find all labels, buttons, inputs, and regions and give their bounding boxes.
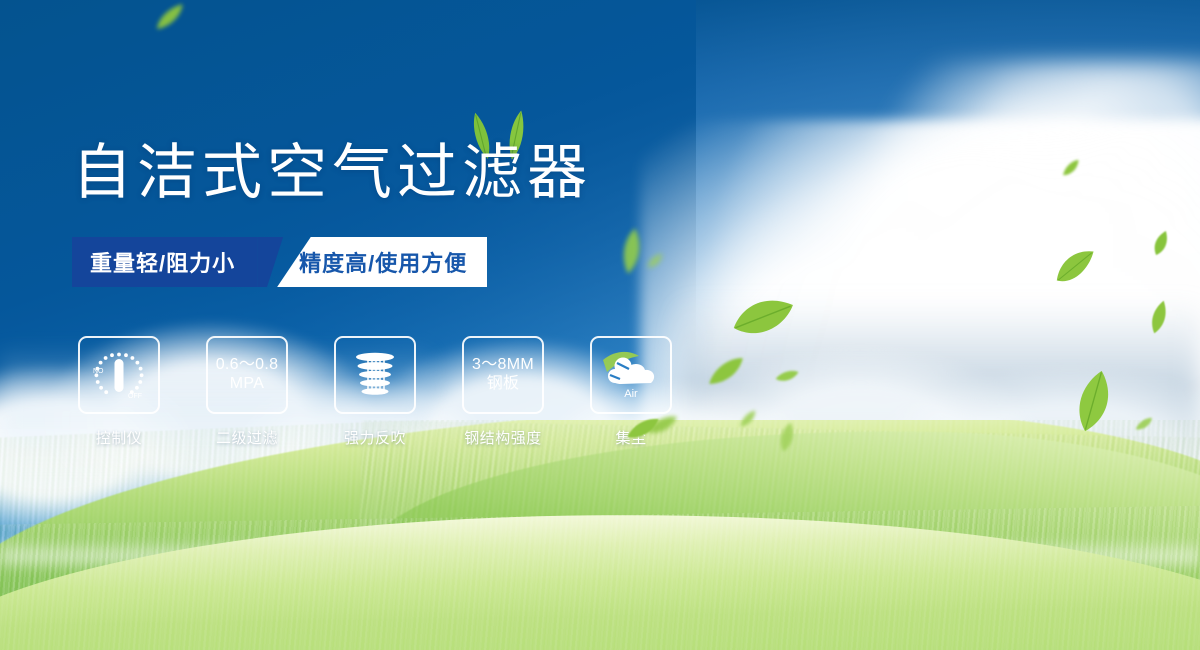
feature-tile: NO OFF: [78, 336, 160, 414]
steel-material: 钢板: [472, 375, 534, 394]
feature-label: 钢结构强度: [464, 427, 542, 448]
feature-tile: Air: [590, 336, 672, 414]
cloud-air-icon: Air: [599, 346, 663, 404]
feature-item-back-blow[interactable]: 强力反吹: [334, 336, 416, 448]
pressure-value: 0.6～0.8: [216, 356, 279, 373]
subtitle-divider: [257, 237, 283, 287]
feature-tile: 3～8MM 钢板: [462, 336, 544, 414]
feature-label: 控制仪: [96, 427, 143, 448]
cloud-air-caption: Air: [624, 388, 638, 400]
feature-item-two-stage-filter[interactable]: 0.6～0.8 MPA 二级过滤: [206, 336, 288, 448]
feature-label: 二级过滤: [216, 427, 278, 448]
subtitle-left: 重量轻/阻力小: [72, 237, 257, 287]
dial-off-label: OFF: [128, 393, 142, 400]
subtitle-bar: 重量轻/阻力小 精度高/使用方便: [72, 237, 487, 287]
feature-list: NO OFF 控制仪 0.6～0.8 MPA 二级过滤: [78, 336, 672, 448]
pressure-unit: MPA: [216, 375, 279, 394]
subtitle-right: 精度高/使用方便: [277, 237, 487, 287]
pressure-text-icon: 0.6～0.8 MPA: [216, 356, 279, 394]
filter-coil-icon: [344, 346, 406, 404]
feature-tile: 0.6～0.8 MPA: [206, 336, 288, 414]
steel-plate-text-icon: 3～8MM 钢板: [472, 356, 534, 394]
steel-thickness: 3～8MM: [472, 356, 534, 373]
feature-item-steel-structure[interactable]: 3～8MM 钢板 钢结构强度: [462, 336, 544, 448]
dial-on-label: NO: [93, 368, 104, 375]
banner-content: 自洁式空气过滤器 重量轻/阻力小 精度高/使用方便: [0, 0, 1200, 650]
hero-banner: 自洁式空气过滤器 重量轻/阻力小 精度高/使用方便: [0, 0, 1200, 650]
feature-tile: [334, 336, 416, 414]
feature-item-controller[interactable]: NO OFF 控制仪: [78, 336, 160, 448]
page-title: 自洁式空气过滤器: [72, 143, 592, 203]
power-dial-icon: NO OFF: [88, 346, 150, 404]
feature-label: 强力反吹: [344, 427, 406, 448]
